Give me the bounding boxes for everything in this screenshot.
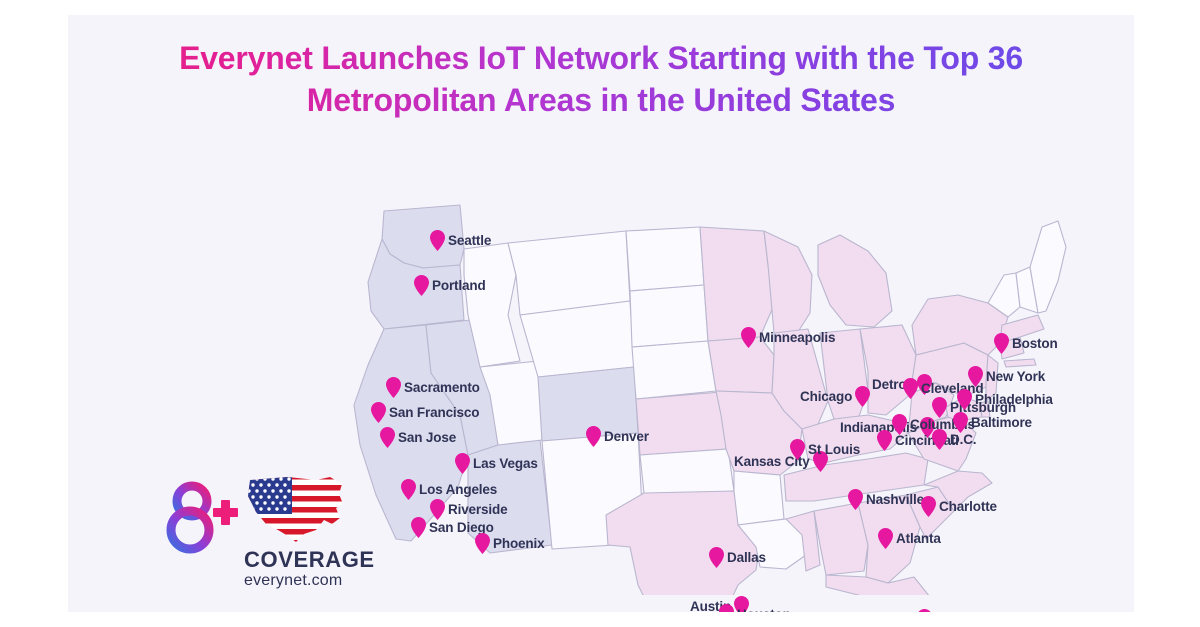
logo-domain-label: everynet.com	[244, 571, 454, 591]
page-title: Everynet Launches IoT Network Starting w…	[68, 37, 1134, 121]
map-pin-icon	[878, 528, 893, 549]
map-pin-icon	[917, 609, 932, 613]
city-label: Chicago	[800, 389, 852, 404]
city-label: Phoenix	[493, 536, 544, 551]
map-pin-icon	[475, 533, 490, 554]
city-label: Portland	[432, 278, 486, 293]
map-pin-icon	[892, 414, 907, 435]
usa-flag-map-icon	[244, 474, 349, 546]
city-label: Dallas	[727, 550, 766, 565]
map-pin-icon	[968, 366, 983, 387]
map-pin-icon	[790, 439, 805, 460]
city-label: Baltimore	[971, 415, 1032, 430]
city-label: D.C.	[950, 432, 976, 447]
city-label: Philadelphia	[975, 392, 1053, 407]
map-pin-icon	[709, 547, 724, 568]
everynet-e-plus-logo	[160, 476, 240, 556]
map-pin-icon	[877, 430, 892, 451]
city-label: San Jose	[398, 430, 456, 445]
map-pin-icon	[371, 402, 386, 423]
map-pin-icon	[380, 427, 395, 448]
map-pin-icon	[903, 378, 918, 399]
city-label: Charlotte	[939, 499, 997, 514]
map-pin-icon	[586, 426, 601, 447]
map-pin-icon	[430, 230, 445, 251]
city-label: Atlanta	[896, 531, 941, 546]
everynet-coverage-logo[interactable]: COVERAGE everynet.com	[160, 470, 460, 595]
map-pin-icon	[921, 496, 936, 517]
map-pin-icon	[953, 412, 968, 433]
city-label: Seattle	[448, 233, 491, 248]
city-label: San Francisco	[389, 405, 479, 420]
city-label: Las Vegas	[473, 456, 538, 471]
city-label: Houston	[737, 607, 791, 613]
city-label: St Louis	[808, 442, 860, 457]
logo-text-block: COVERAGE everynet.com	[244, 548, 454, 591]
map-pin-icon	[932, 429, 947, 450]
city-label: Denver	[604, 429, 649, 444]
map-pin-icon	[414, 275, 429, 296]
infographic-card: Everynet Launches IoT Network Starting w…	[68, 15, 1134, 612]
map-pin-icon	[932, 397, 947, 418]
city-label: New York	[986, 369, 1045, 384]
city-label: Boston	[1012, 336, 1058, 351]
city-label: Sacramento	[404, 380, 480, 395]
map-pin-icon	[848, 489, 863, 510]
map-pin-icon	[741, 327, 756, 348]
logo-coverage-label: COVERAGE	[244, 548, 454, 571]
map-pin-icon	[957, 389, 972, 410]
map-pin-icon	[386, 377, 401, 398]
city-label: Nashville	[866, 492, 924, 507]
map-pin-icon	[719, 604, 734, 613]
city-label: Minneapolis	[759, 330, 835, 345]
city-label: Orlando	[935, 612, 986, 613]
map-pin-icon	[994, 333, 1009, 354]
map-pin-icon	[855, 386, 870, 407]
